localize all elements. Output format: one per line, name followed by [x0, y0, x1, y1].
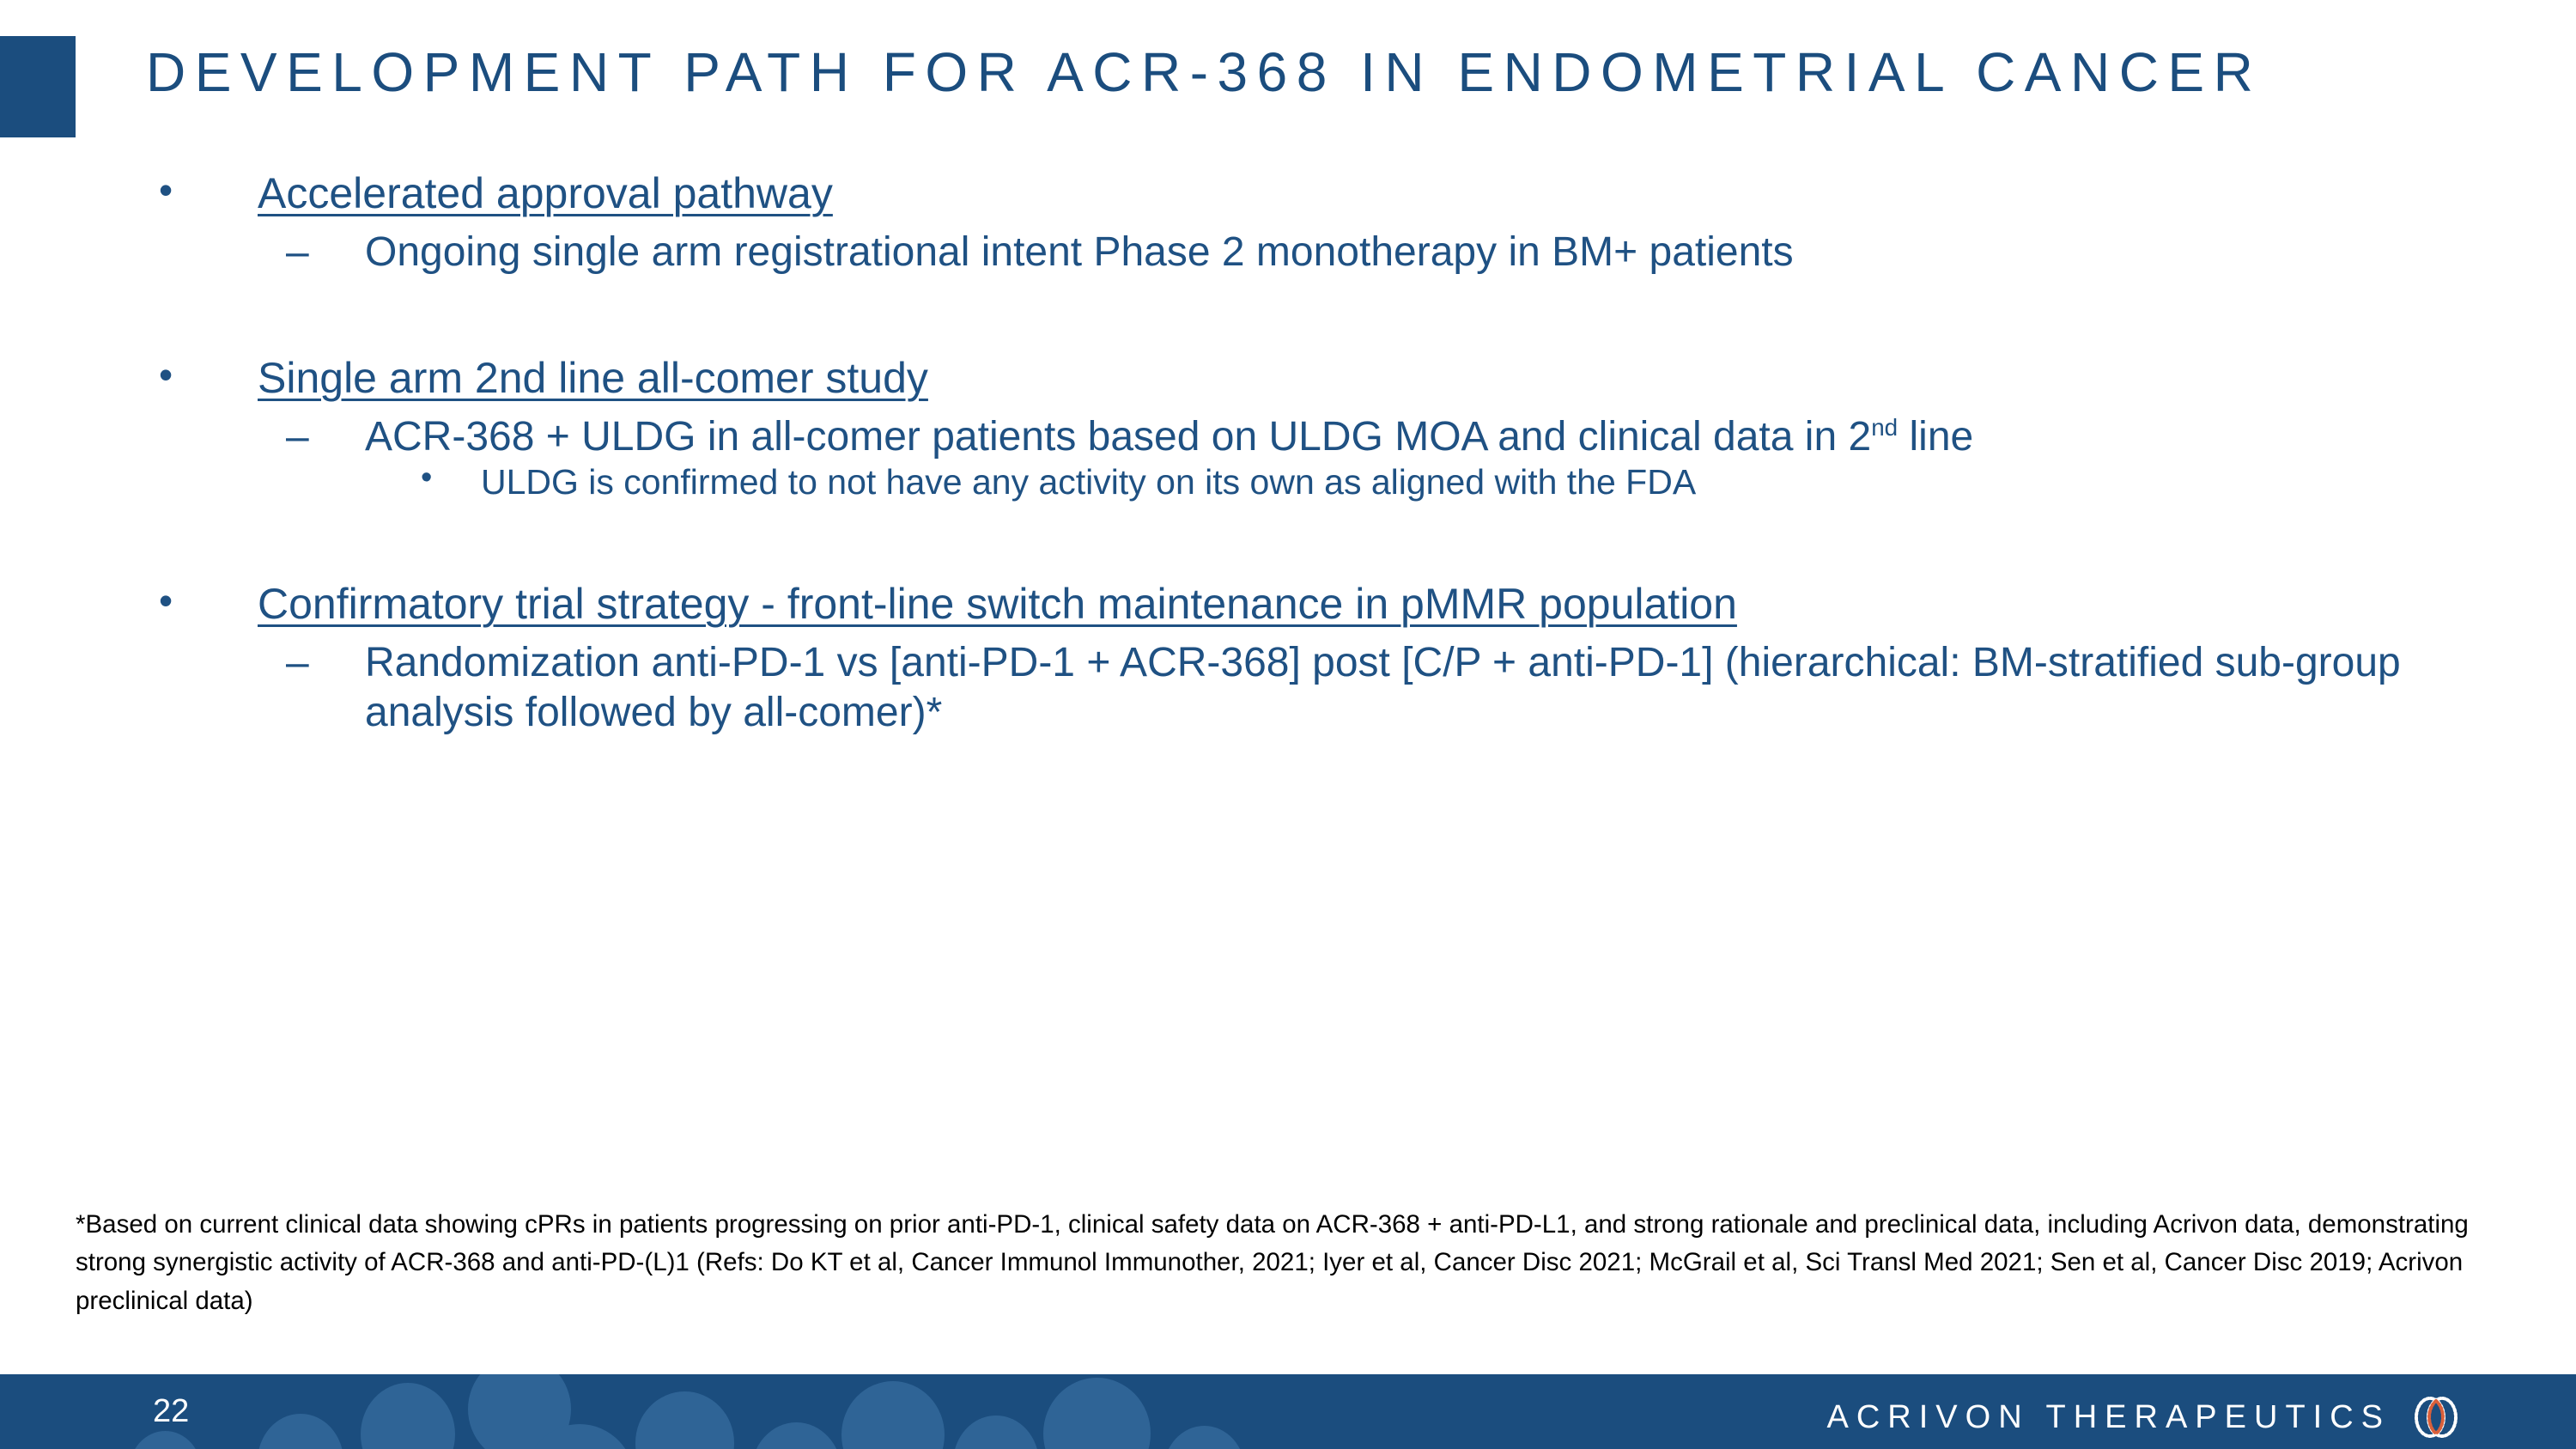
decor-circle — [361, 1383, 455, 1449]
decor-circle — [1043, 1378, 1151, 1449]
bullet-marker-level1: • — [159, 351, 173, 398]
bullet-marker-level2: – — [286, 228, 309, 277]
decor-circle — [524, 1424, 635, 1449]
slide-canvas: DEVELOPMENT PATH FOR ACR-368 IN ENDOMETR… — [0, 0, 2576, 1449]
group-spacer — [0, 503, 2576, 579]
footnote-text: *Based on current clinical data showing … — [76, 1206, 2488, 1320]
footer-bar: 22 ACRIVON THERAPEUTICS — [0, 1374, 2576, 1449]
decor-circle — [129, 1431, 202, 1449]
bullet-group-2: • Single arm 2nd line all-comer study –A… — [0, 353, 2576, 504]
bullet-marker-level1: • — [159, 577, 173, 624]
bullet-level1: • Single arm 2nd line all-comer study — [0, 353, 2576, 404]
bullet-marker-level2: – — [286, 412, 309, 462]
decor-circle — [751, 1422, 841, 1449]
ordinal-superscript: nd — [1871, 414, 1898, 441]
page-number: 22 — [153, 1395, 189, 1428]
bullet-text-acr368-uldg-post: line — [1898, 414, 1973, 460]
bullet-level2: – Randomization anti-PD-1 vs [anti-PD-1 … — [0, 638, 2576, 737]
bullet-text-uldg-no-activity: ULDG is confirmed to not have any activi… — [481, 462, 1696, 502]
spacer — [0, 404, 2576, 412]
acrivon-rings-logo-icon — [2409, 1395, 2463, 1440]
title-accent-block — [0, 36, 76, 137]
bullet-level1: • Confirmatory trial strategy - front-li… — [0, 579, 2576, 630]
bullet-level3: • ULDG is confirmed to not have any acti… — [0, 461, 2576, 503]
brand-name: ACRIVON THERAPEUTICS — [1827, 1401, 2391, 1434]
decor-circle — [468, 1374, 571, 1449]
decor-circle — [841, 1381, 945, 1449]
decor-circle — [258, 1414, 343, 1449]
bullet-text-acr368-uldg-pre: ACR-368 + ULDG in all-comer patients bas… — [365, 414, 1871, 460]
bullet-group-3: • Confirmatory trial strategy - front-li… — [0, 579, 2576, 737]
bullet-level1: • Accelerated approval pathway — [0, 168, 2576, 219]
group-spacer — [0, 277, 2576, 353]
decor-circle — [1163, 1426, 1245, 1449]
brand-lockup: ACRIVON THERAPEUTICS — [1827, 1395, 2463, 1440]
bullet-level2: – Ongoing single arm registrational inte… — [0, 228, 2576, 277]
bullet-marker-level3: • — [421, 459, 432, 498]
page-title: DEVELOPMENT PATH FOR ACR-368 IN ENDOMETR… — [146, 45, 2550, 100]
bullet-heading-accelerated-approval-pathway: Accelerated approval pathway — [258, 169, 833, 217]
bullet-marker-level2: – — [286, 638, 309, 688]
body-content: • Accelerated approval pathway – Ongoing… — [0, 168, 2576, 738]
decor-circle — [953, 1416, 1039, 1449]
spacer — [0, 630, 2576, 638]
bullet-text-ongoing-phase2: Ongoing single arm registrational intent… — [365, 229, 1794, 275]
bullet-heading-confirmatory-trial-strategy: Confirmatory trial strategy - front-line… — [258, 580, 1737, 628]
bullet-marker-level1: • — [159, 167, 173, 213]
bullet-group-1: • Accelerated approval pathway – Ongoing… — [0, 168, 2576, 277]
decor-circle — [635, 1391, 734, 1449]
spacer — [0, 219, 2576, 228]
bullet-text-randomization-design: Randomization anti-PD-1 vs [anti-PD-1 + … — [365, 640, 2401, 735]
bullet-level2: –ACR-368 + ULDG in all-comer patients ba… — [0, 412, 2576, 462]
bullet-heading-single-arm-2nd-line: Single arm 2nd line all-comer study — [258, 354, 928, 402]
